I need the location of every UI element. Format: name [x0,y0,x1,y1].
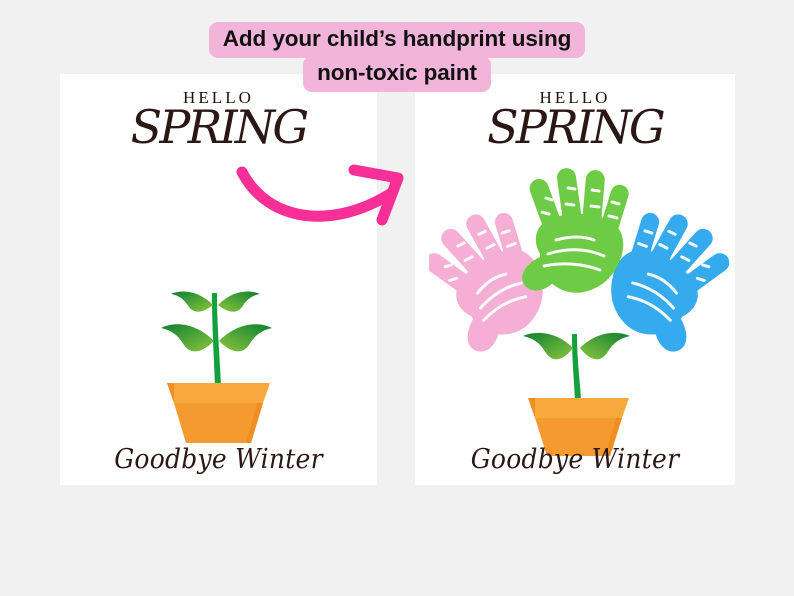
page-canvas: HELLO SPRING [0,0,794,596]
instruction-line-1: Add your child’s handprint using [209,22,585,58]
potted-plant-illustration [523,333,630,456]
card-hello-label: HELLO [415,88,735,108]
plant-stem [572,334,581,402]
handprint-flower-artwork [429,166,729,456]
leaf-lower-left [523,333,573,359]
pot-rim-shade [528,398,535,418]
card-spring-label: SPRING [60,106,377,150]
leaf-lower-left [161,324,214,351]
leaf-lower-right [580,333,630,359]
leaf-upper-right [218,292,260,312]
card-hello-label: HELLO [60,88,377,108]
plant-stem [212,293,221,387]
pot-rim-shade [167,383,174,403]
pot-rim [167,383,270,403]
pot-rim [528,398,629,418]
transition-arrow [232,158,432,253]
card-goodbye-label: Goodbye Winter [415,443,735,475]
leaf-upper-left [171,292,213,312]
leaf-lower-right [219,324,272,351]
card-spring-label: SPRING [415,106,735,150]
potted-plant-illustration [147,269,290,444]
arrow-curve [242,172,390,216]
card-goodbye-label: Goodbye Winter [60,443,377,475]
blank-template-card[interactable]: HELLO SPRING [60,74,377,485]
completed-handprint-card[interactable]: HELLO SPRING [415,74,735,485]
